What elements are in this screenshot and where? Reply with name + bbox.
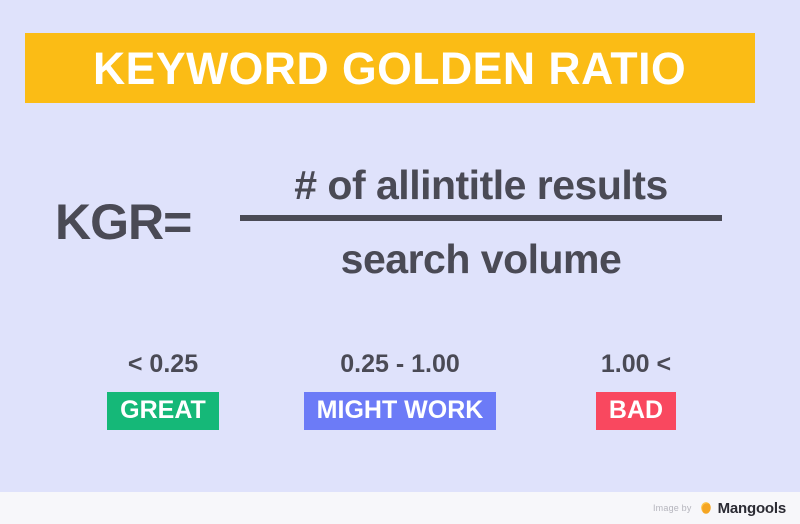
- status-badge-might-work: MIGHT WORK: [304, 392, 497, 430]
- mango-icon: [699, 501, 713, 515]
- range-column-bad: 1.00 < BAD: [560, 352, 712, 430]
- header-band: KEYWORD GOLDEN RATIO: [25, 33, 755, 103]
- formula-left-hand-side: KGR=: [55, 197, 191, 247]
- range-value-great: < 0.25: [78, 352, 248, 377]
- kgr-formula: KGR= # of allintitle results search volu…: [0, 165, 800, 305]
- status-badge-bad: BAD: [596, 392, 676, 430]
- range-column-great: < 0.25 GREAT: [78, 352, 248, 430]
- status-badge-great: GREAT: [107, 392, 219, 430]
- formula-denominator: search volume: [240, 221, 722, 280]
- footer-brand-name: Mangools: [718, 500, 786, 517]
- footer-attribution-bar: Image by Mangools: [0, 492, 800, 524]
- range-value-might-work: 0.25 - 1.00: [290, 352, 510, 377]
- formula-fraction: # of allintitle results search volume: [240, 165, 722, 280]
- range-column-might-work: 0.25 - 1.00 MIGHT WORK: [290, 352, 510, 430]
- range-legend: < 0.25 GREAT 0.25 - 1.00 MIGHT WORK 1.00…: [0, 352, 800, 442]
- infographic-canvas: KEYWORD GOLDEN RATIO KGR= # of allintitl…: [0, 0, 800, 524]
- range-value-bad: 1.00 <: [560, 352, 712, 377]
- page-title: KEYWORD GOLDEN RATIO: [93, 46, 686, 91]
- footer-credit-label: Image by: [653, 503, 692, 513]
- formula-numerator: # of allintitle results: [240, 165, 722, 215]
